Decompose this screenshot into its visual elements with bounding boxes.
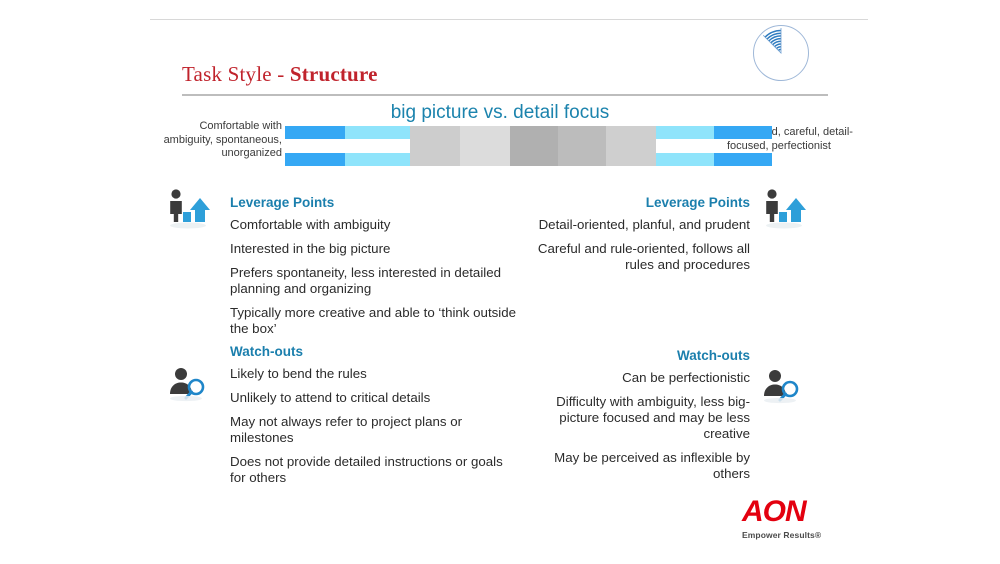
continuum-segment-blue-light-left <box>345 126 410 139</box>
continuum-segment-blue-dark-left <box>285 126 345 139</box>
continuum-segment-gray-2 <box>460 126 510 166</box>
leverage-point: Interested in the big picture <box>230 241 520 257</box>
continuum-segment-gray-5 <box>606 126 656 166</box>
watch-outs-right: Watch-outs Can be perfectionistic Diffic… <box>520 348 750 482</box>
page-title: Task Style - Structure <box>182 62 378 87</box>
continuum-segment-blue-dark-right <box>714 153 772 166</box>
watch-out-point: May be perceived as inflexible by others <box>520 450 750 482</box>
leverage-points-left: Leverage Points Comfortable with ambigui… <box>230 195 520 337</box>
person-up-arrow-icon <box>762 188 810 232</box>
leverage-points-right-heading: Leverage Points <box>520 195 750 210</box>
continuum-segment-blue-light-right <box>656 153 714 166</box>
leverage-point: Typically more creative and able to ‘thi… <box>230 305 520 337</box>
continuum-segment-blue-dark-right <box>714 126 772 139</box>
aon-fan-logo <box>752 24 810 82</box>
watch-out-point: Likely to bend the rules <box>230 366 520 382</box>
watch-outs-left: Watch-outs Likely to bend the rules Unli… <box>230 344 520 486</box>
continuum-segment-gray-1 <box>410 126 460 166</box>
watch-outs-right-heading: Watch-outs <box>520 348 750 363</box>
continuum-left-label: Comfortable with ambiguity, spontaneous,… <box>150 120 282 161</box>
continuum-segment-gray-3 <box>510 126 558 166</box>
continuum-bar <box>285 126 725 166</box>
leverage-point: Careful and rule-oriented, follows all r… <box>520 241 750 273</box>
slide-canvas: Task Style - Structure big picture vs. d… <box>0 0 1000 564</box>
watch-out-point: Does not provide detailed instructions o… <box>230 454 520 486</box>
continuum-segment-blue-dark-left <box>285 153 345 166</box>
leverage-point: Detail-oriented, planful, and prudent <box>520 217 750 233</box>
watch-out-point: Difficulty with ambiguity, less big-pict… <box>520 394 750 442</box>
top-divider <box>150 19 868 20</box>
continuum-segment-gray-4 <box>558 126 606 166</box>
title-strong: Structure <box>290 62 378 86</box>
leverage-point: Comfortable with ambiguity <box>230 217 520 233</box>
watch-out-point: May not always refer to project plans or… <box>230 414 520 446</box>
person-magnifier-icon <box>166 366 214 406</box>
leverage-points-right: Leverage Points Detail-oriented, planful… <box>520 195 750 273</box>
aon-logo: AON Empower Results® <box>742 497 834 543</box>
leverage-points-left-heading: Leverage Points <box>230 195 520 210</box>
title-divider <box>182 94 828 96</box>
person-up-arrow-icon <box>166 188 214 232</box>
continuum-segment-blue-light-right <box>656 126 714 139</box>
watch-out-point: Unlikely to attend to critical details <box>230 390 520 406</box>
title-prefix: Task Style - <box>182 62 290 86</box>
continuum-segment-blue-light-left <box>345 153 410 166</box>
person-magnifier-icon <box>760 368 808 408</box>
aon-tagline: Empower Results® <box>742 530 834 540</box>
watch-out-point: Can be perfectionistic <box>520 370 750 386</box>
aon-wordmark: AON <box>742 497 834 527</box>
leverage-point: Prefers spontaneity, less interested in … <box>230 265 520 297</box>
watch-outs-left-heading: Watch-outs <box>230 344 520 359</box>
